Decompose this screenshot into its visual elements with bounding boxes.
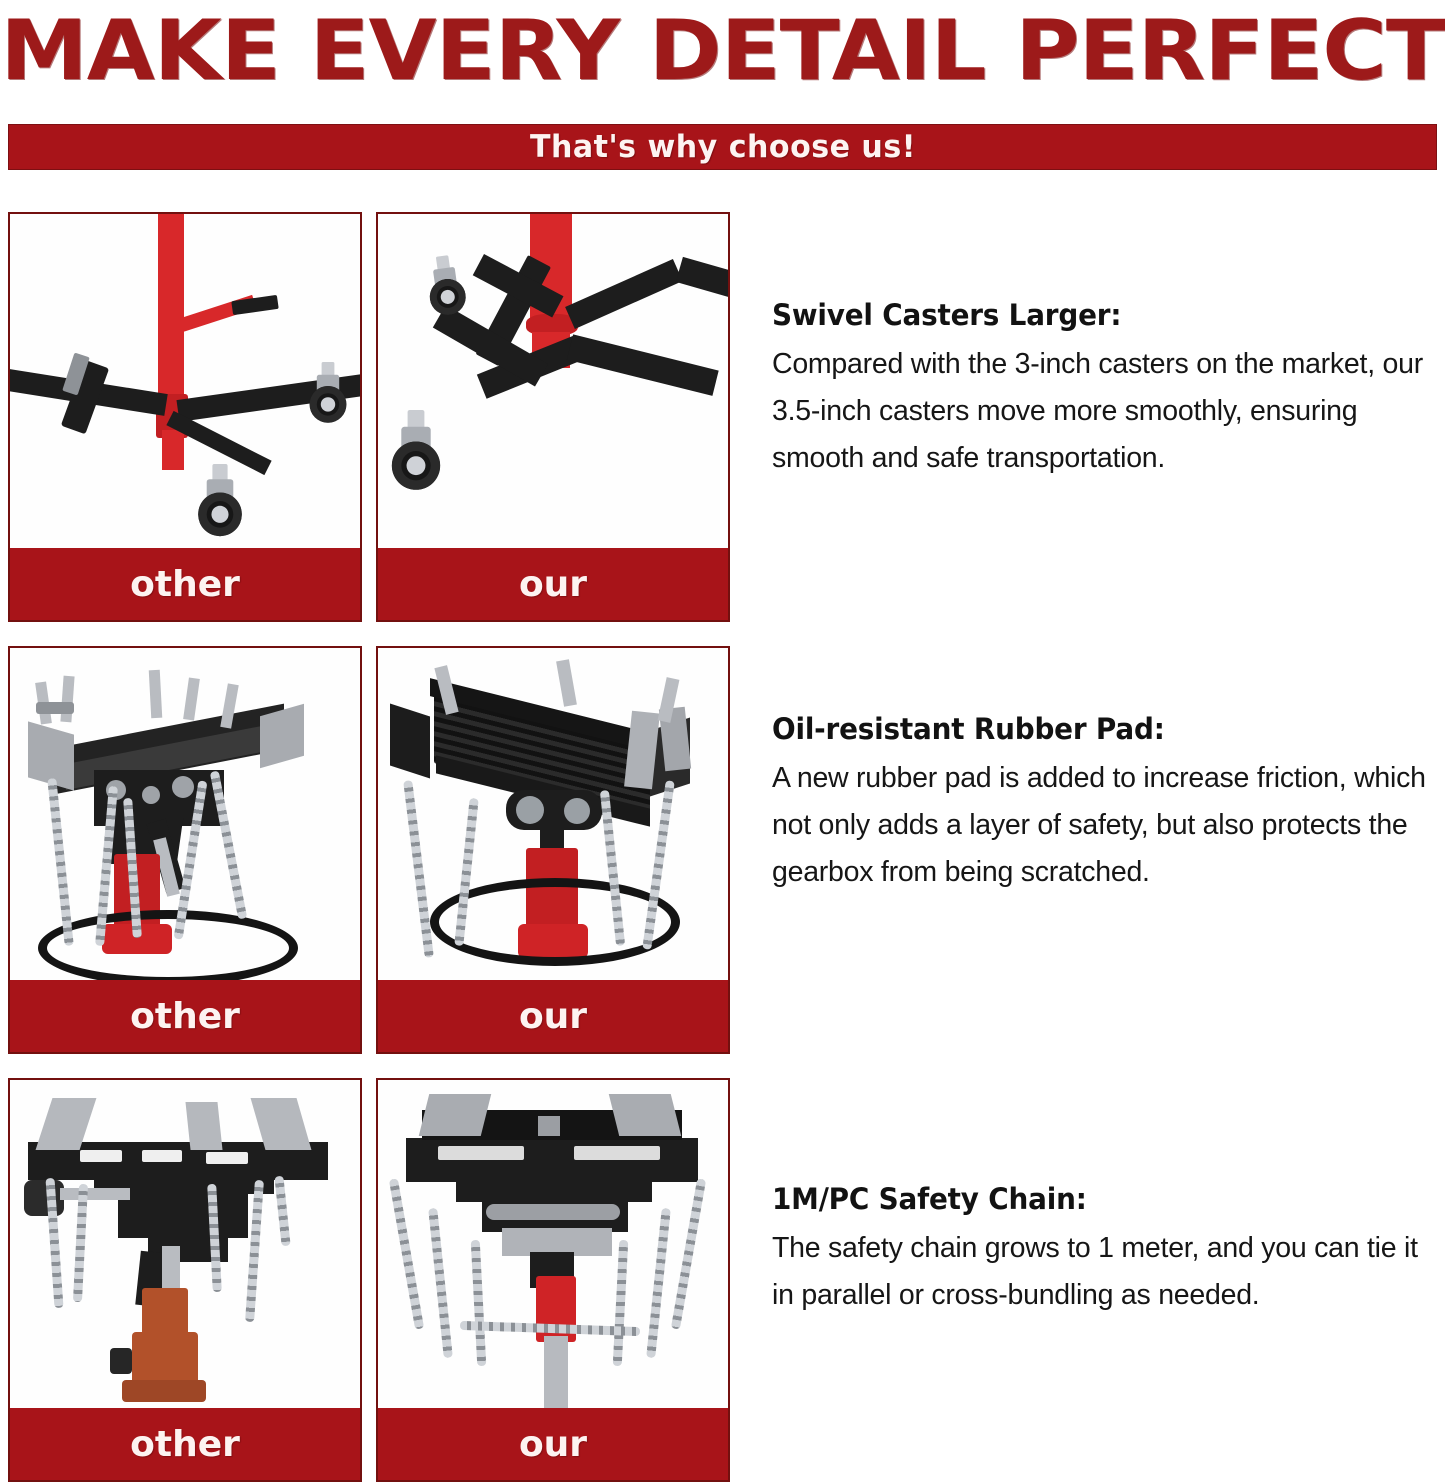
- panel-caption-text: other: [130, 1424, 240, 1465]
- feature-body: The safety chain grows to 1 meter, and y…: [772, 1225, 1427, 1319]
- feature-body: A new rubber pad is added to increase fr…: [772, 755, 1427, 896]
- feature-block-swivel-casters: Swivel Casters Larger: Compared with the…: [772, 298, 1427, 482]
- panel-caption-other: other: [10, 1408, 360, 1480]
- feature-title: Swivel Casters Larger:: [772, 298, 1401, 332]
- panel-caption-other: other: [10, 980, 360, 1052]
- product-photo-our-pad: [378, 648, 728, 980]
- feature-block-safety-chain: 1M/PC Safety Chain: The safety chain gro…: [772, 1182, 1427, 1319]
- comparison-panel-our-chain: our: [376, 1078, 730, 1482]
- subtitle-text: That's why choose us!: [530, 129, 916, 165]
- comparison-panel-our-pad: our: [376, 646, 730, 1054]
- product-photo-other-chain: [10, 1080, 360, 1408]
- comparison-panel-other-casters: other: [8, 212, 362, 622]
- comparison-row-safety-chain: other our: [8, 1078, 730, 1482]
- comparison-panel-our-casters: our: [376, 212, 730, 622]
- panel-caption-text: our: [519, 1424, 587, 1465]
- product-photo-other-casters: [10, 214, 360, 548]
- panel-caption-our: our: [378, 980, 728, 1052]
- panel-caption-text: other: [130, 996, 240, 1037]
- panel-caption-our: our: [378, 1408, 728, 1480]
- feature-title: 1M/PC Safety Chain:: [772, 1182, 1401, 1216]
- comparison-panel-other-chain: other: [8, 1078, 362, 1482]
- feature-title: Oil-resistant Rubber Pad:: [772, 712, 1401, 746]
- panel-caption-text: our: [519, 996, 587, 1037]
- panel-caption-text: our: [519, 564, 587, 605]
- comparison-panel-other-pad: other: [8, 646, 362, 1054]
- product-photo-other-pad: [10, 648, 360, 980]
- subtitle-banner: That's why choose us!: [8, 124, 1437, 170]
- product-photo-our-chain: [378, 1080, 728, 1408]
- comparison-row-swivel-casters: other our: [8, 212, 730, 622]
- product-photo-our-casters: [378, 214, 728, 548]
- panel-caption-text: other: [130, 564, 240, 605]
- feature-body: Compared with the 3-inch casters on the …: [772, 341, 1427, 482]
- comparison-row-rubber-pad: other our: [8, 646, 730, 1054]
- page-title: MAKE EVERY DETAIL PERFECT: [0, 0, 1445, 104]
- panel-caption-other: other: [10, 548, 360, 620]
- feature-block-rubber-pad: Oil-resistant Rubber Pad: A new rubber p…: [772, 712, 1427, 896]
- panel-caption-our: our: [378, 548, 728, 620]
